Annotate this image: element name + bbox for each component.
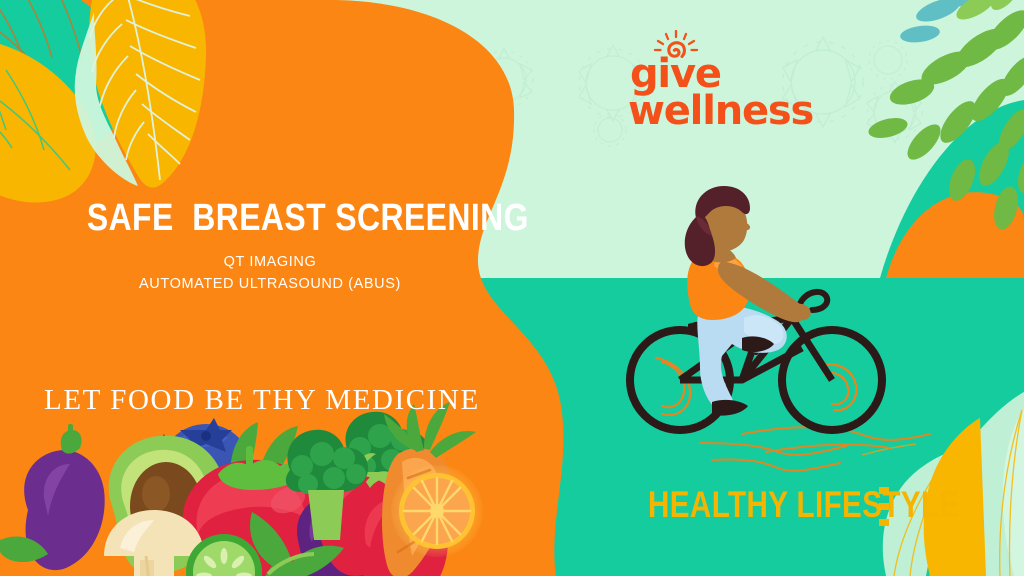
brand-logo[interactable]: give wellness	[628, 30, 828, 122]
orange-slice	[391, 465, 483, 557]
food-tagline: LET FOOD BE THY MEDICINE	[44, 384, 480, 417]
brand-wordmark: give wellness	[628, 56, 828, 130]
subtitle-abus: AUTOMATED ULTRASOUND (ABUS)	[52, 276, 488, 292]
brand-line-2: wellness	[628, 93, 828, 130]
subtitle-qt-imaging: QT IMAGING	[52, 254, 488, 270]
wellness-banner: give wellness SAFE BREAST SCREENING QT I…	[0, 0, 1024, 576]
page-title: SAFE BREAST SCREENING	[87, 196, 453, 240]
healthy-lifestyle-label: HEALTHY LIFESTYLE	[648, 484, 960, 526]
headline-block: SAFE BREAST SCREENING QT IMAGING AUTOMAT…	[52, 196, 488, 292]
